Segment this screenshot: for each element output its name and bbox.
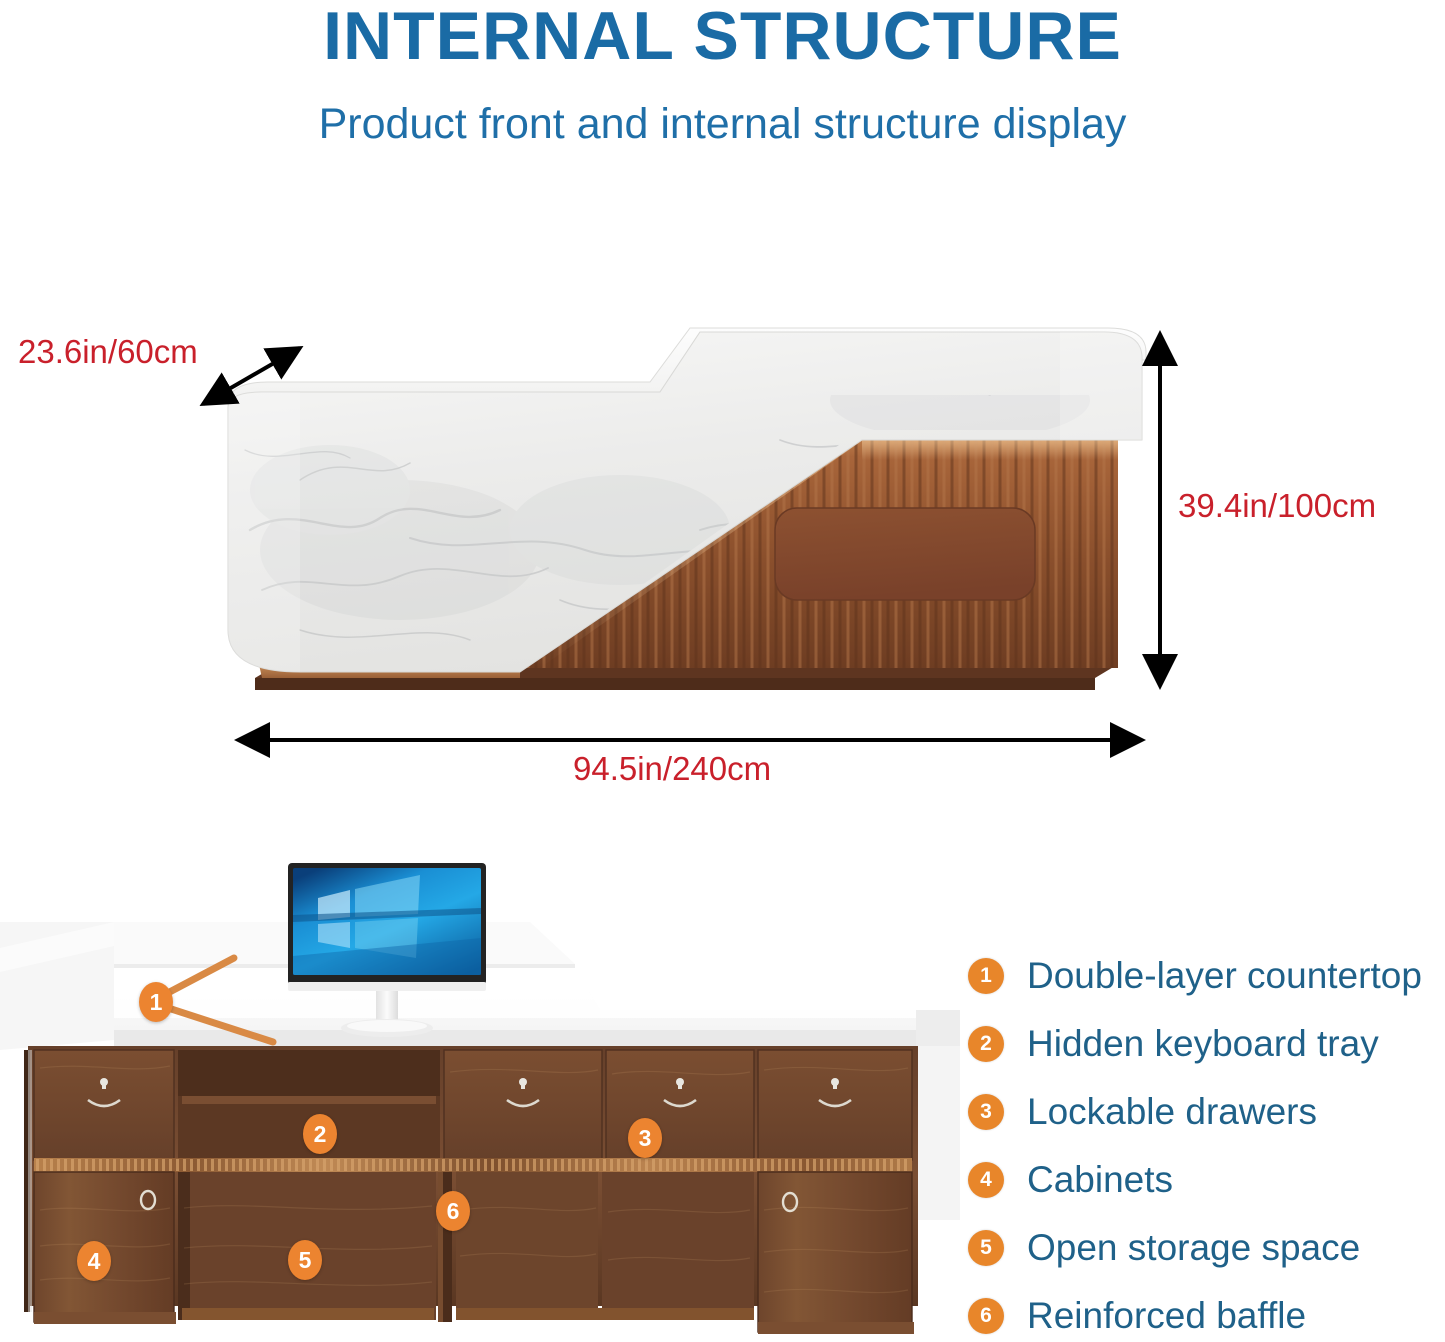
storage-bay-a-left-wall: [178, 1172, 190, 1320]
legend-item-3: 3 Lockable drawers: [968, 1078, 1445, 1146]
desk-internal-illustration: [0, 860, 960, 1342]
cabinet-left-white-edge: [28, 1050, 32, 1312]
height-dimension-label: 39.4in/100cm: [1178, 487, 1376, 525]
legend-label-6: Reinforced baffle: [1027, 1295, 1306, 1337]
cabinet-left-base-trim: [34, 1312, 176, 1324]
countertop-right-highlight: [1060, 332, 1142, 440]
storage-bay-bc-shelf: [456, 1308, 754, 1320]
callout-marker-1[interactable]: 1: [139, 982, 173, 1022]
legend-badge-2: 2: [968, 1026, 1004, 1062]
countertop-front-edge: [114, 1030, 960, 1048]
countertop-left-highlight: [228, 392, 300, 672]
legend-badge-3: 3: [968, 1094, 1004, 1130]
countertop-top-sheen: [114, 968, 960, 1018]
keyboard-tray-shelf: [182, 1096, 436, 1104]
cabinet-right-base-trim: [758, 1322, 914, 1334]
open-storage-bay-b: [456, 1172, 598, 1320]
callout-marker-4[interactable]: 4: [77, 1241, 111, 1281]
legend-item-5: 5 Open storage space: [968, 1214, 1445, 1282]
storage-bay-a-shelf: [182, 1308, 434, 1320]
legend-label-2: Hidden keyboard tray: [1027, 1023, 1379, 1065]
page-subtitle: Product front and internal structure dis…: [0, 100, 1445, 149]
callout-marker-3[interactable]: 3: [628, 1118, 662, 1158]
open-storage-bay-c: [602, 1172, 754, 1320]
monitor-stand-neck: [376, 991, 398, 1023]
legend-item-1: 1 Double-layer countertop: [968, 942, 1445, 1010]
page-title: INTERNAL STRUCTURE: [0, 2, 1445, 70]
legend-label-4: Cabinets: [1027, 1159, 1173, 1201]
legend-item-2: 2 Hidden keyboard tray: [968, 1010, 1445, 1078]
recessed-front-panel: [775, 508, 1035, 600]
legend-label-1: Double-layer countertop: [1027, 955, 1422, 997]
depth-dimension-label: 23.6in/60cm: [18, 333, 198, 371]
cabinet-body: [24, 1046, 918, 1334]
product-internal-view: 1 2 3 4 5 6: [0, 860, 960, 1342]
callout-marker-5[interactable]: 5: [288, 1240, 322, 1280]
monitor-stand-base-top: [347, 1020, 427, 1032]
legend-badge-1: 1: [968, 958, 1004, 994]
countertop-right-top: [916, 1010, 960, 1046]
width-dimension-label: 94.5in/240cm: [573, 750, 771, 788]
callout-marker-2[interactable]: 2: [303, 1114, 337, 1154]
callout-marker-6[interactable]: 6: [436, 1191, 470, 1231]
keyboard-tray-upper-shadow: [178, 1050, 440, 1096]
legend-badge-4: 4: [968, 1162, 1004, 1198]
legend-badge-5: 5: [968, 1230, 1004, 1266]
legend-item-6: 6 Reinforced baffle: [968, 1282, 1445, 1342]
desk-plinth-front: [255, 678, 1095, 690]
legend-item-4: 4 Cabinets: [968, 1146, 1445, 1214]
legend-label-5: Open storage space: [1027, 1227, 1360, 1269]
feature-legend: 1 Double-layer countertop 2 Hidden keybo…: [968, 942, 1445, 1342]
legend-label-3: Lockable drawers: [1027, 1091, 1317, 1133]
legend-badge-6: 6: [968, 1298, 1004, 1334]
monitor-chin: [288, 982, 486, 991]
